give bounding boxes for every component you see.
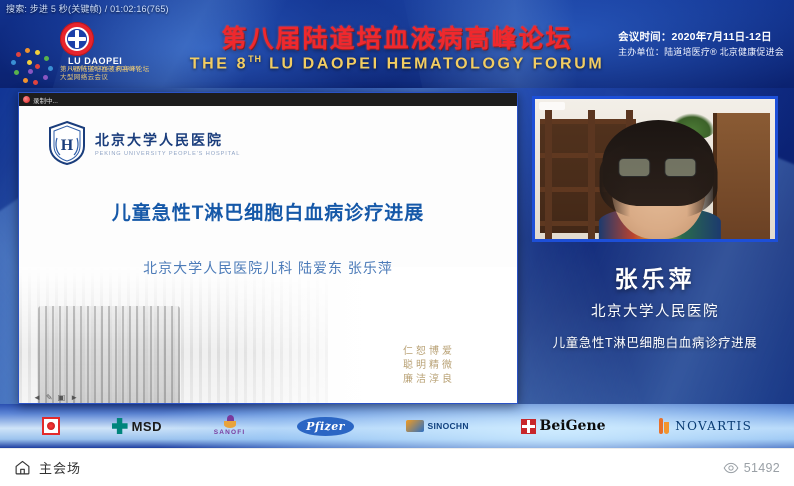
door-frame — [713, 113, 771, 239]
pen-icon[interactable]: ✎ — [46, 393, 53, 402]
hospital-name-en: PEKING UNIVERSITY PEOPLE'S HOSPITAL — [95, 151, 240, 157]
banner-meta-time: 会议时间：2020年7月11日-12日 — [618, 30, 784, 45]
hospital-name-block: 北京大学人民医院 PEKING UNIVERSITY PEOPLE'S HOSP… — [95, 130, 240, 157]
sanofi-icon — [223, 415, 237, 429]
msd-icon — [112, 418, 128, 434]
sponsor-label-msd: MSD — [132, 419, 162, 434]
sponsor-logo-sinochn[interactable]: SINOCHN — [406, 415, 469, 437]
hospital-name-cn: 北京大学人民医院 — [95, 130, 240, 150]
shelf-post — [545, 110, 552, 239]
speaker-organization: 北京大学人民医院 — [526, 300, 784, 321]
presentation-slide-panel[interactable]: 录制中... H 北京大 — [18, 92, 518, 404]
svg-text:H: H — [61, 137, 74, 154]
sponsor-logo-sanofi[interactable]: SANOFI — [214, 415, 246, 437]
webcam-name-badge — [539, 102, 565, 110]
view-count: 51492 — [744, 461, 780, 475]
home-icon[interactable] — [14, 459, 31, 476]
sponsor-logo-novartis[interactable]: NOVARTIS — [657, 415, 752, 437]
speaker-webcam-video[interactable] — [532, 96, 778, 242]
arrow-right-icon[interactable]: ► — [70, 393, 78, 402]
motto-line-3: 廉洁淳良 — [403, 373, 455, 387]
sponsor-label-pfizer: Pfizer — [297, 417, 354, 436]
sponsor-strip: MSD SANOFI Pfizer SINOCHN BeiGene NOVART… — [0, 404, 794, 448]
sponsor-label-sinochn: SINOCHN — [428, 421, 469, 431]
slide-title: 儿童急性T淋巴细胞白血病诊疗进展 — [19, 198, 517, 225]
sponsor-label-sanofi: SANOFI — [214, 429, 246, 436]
speaker-hair-sides — [600, 141, 718, 219]
sponsor-logo-beigene[interactable]: BeiGene — [521, 415, 606, 437]
eye-icon — [723, 460, 739, 476]
room-label: 主会场 — [39, 458, 81, 477]
recording-label: 录制中... — [33, 95, 58, 105]
arrow-left-icon[interactable]: ◄ — [33, 393, 41, 402]
recording-indicator-icon — [23, 96, 30, 103]
speaker-topic: 儿童急性T淋巴细胞白血病诊疗进展 — [526, 332, 784, 351]
beigene-icon — [521, 419, 536, 434]
motto-line-1: 仁恕博爱 — [403, 345, 455, 359]
glasses-icon — [618, 158, 696, 177]
banner-title-en-ordinal: TH — [248, 54, 262, 64]
speaker-name: 张乐萍 — [526, 260, 784, 294]
sponsor-logo-pfizer[interactable]: Pfizer — [297, 415, 354, 437]
novartis-icon — [657, 418, 671, 434]
shield-icon: H — [47, 120, 87, 166]
shelf-post — [588, 110, 595, 239]
room-selector[interactable]: 主会场 — [14, 458, 81, 477]
slide-authors: 北京大学人民医院儿科 陆爱东 张乐萍 — [19, 258, 517, 278]
red-square-icon — [42, 417, 60, 435]
bottom-bar: 主会场 51492 — [0, 448, 794, 486]
speaker-panel: 张乐萍 北京大学人民医院 儿童急性T淋巴细胞白血病诊疗进展 — [526, 92, 784, 404]
seek-status-text: 搜索: 步进 5 秒(关键帧) / 01:02:16(765) — [6, 2, 169, 15]
banner-title-en-rest: LU DAOPEI HEMATOLOGY FORUM — [269, 55, 604, 72]
hospital-branding: H 北京大学人民医院 PEKING UNIVERSITY PEOPLE'S HO… — [47, 120, 240, 166]
slide-recording-bar: 录制中... — [19, 93, 517, 106]
forum-logo-cn-line2: 大型网络云会议 — [60, 74, 150, 82]
eraser-icon[interactable]: ▣ — [58, 393, 66, 402]
slide-content: H 北京大学人民医院 PEKING UNIVERSITY PEOPLE'S HO… — [19, 106, 517, 404]
slide-annotation-toolbar[interactable]: ◄ ✎ ▣ ► — [33, 393, 78, 402]
view-counter: 51492 — [723, 460, 780, 476]
video-stage[interactable]: LU DAOPEI HEMATOLOGY FORUM 第八届陆道培血液病高峰论坛… — [0, 0, 794, 448]
sponsor-logo-red-square[interactable] — [42, 415, 60, 437]
live-stream-page: LU DAOPEI HEMATOLOGY FORUM 第八届陆道培血液病高峰论坛… — [0, 0, 794, 486]
webcam-scene — [535, 99, 775, 239]
sponsor-logo-msd[interactable]: MSD — [112, 415, 162, 437]
sponsor-label-beigene: BeiGene — [540, 418, 606, 434]
sponsor-label-novartis: NOVARTIS — [675, 419, 752, 433]
motto-line-2: 聪明精微 — [403, 359, 455, 373]
sinochn-icon — [406, 420, 424, 432]
hospital-motto: 仁恕博爱 聪明精微 廉洁淳良 — [403, 345, 455, 387]
banner-meta: 会议时间：2020年7月11日-12日 主办单位：陆道培医疗® 北京健康促进会 — [618, 30, 784, 60]
banner-meta-host: 主办单位：陆道培医疗® 北京健康促进会 — [618, 45, 784, 60]
banner-title-en-prefix: THE 8 — [190, 55, 248, 72]
